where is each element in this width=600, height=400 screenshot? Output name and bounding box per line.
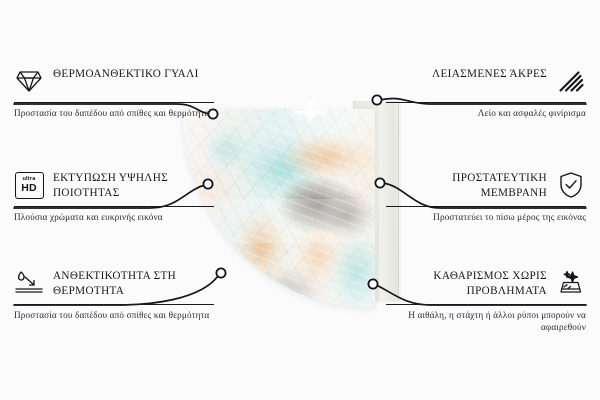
feature-description: Προστασία του δαπέδου από σπίθες και θερ… (14, 108, 214, 120)
feature-description: Πλούσια χρώματα και ευκρινής εικόνα (14, 212, 214, 224)
polished-edges-icon (556, 66, 586, 96)
feature-divider (386, 102, 586, 103)
feature-divider (14, 206, 214, 207)
sparkle-clean-icon (556, 268, 586, 298)
product-image (183, 99, 405, 311)
feature-divider (386, 304, 586, 305)
feature-header: ΚΑΘΑΡΙΣΜΟΣ ΧΩΡΙΣ ΠΡΟΒΛΗΜΑΤΑ (386, 268, 586, 298)
feature-protective-film: ΠΡΟΣΤΑΤΕΥΤΙΚΗ ΜΕΜΒΡΑΝΗ Προστατεύει το πί… (386, 170, 586, 224)
feature-title: ΑΝΘΕΚΤΙΚΟΤΗΤΑ ΣΤΗ ΘΕΡΜΟΤΗΤΑ (53, 268, 205, 298)
flame-deflect-icon (14, 268, 44, 298)
feature-title: ΚΑΘΑΡΙΣΜΟΣ ΧΩΡΙΣ ΠΡΟΒΛΗΜΑΤΑ (395, 268, 547, 298)
feature-header: ultra HD ΕΚΤΥΠΩΣΗ ΥΨΗΛΗΣ ΠΟΙΟΤΗΤΑΣ (14, 170, 214, 200)
feature-header: ΠΡΟΣΤΑΤΕΥΤΙΚΗ ΜΕΜΒΡΑΝΗ (386, 170, 586, 200)
feature-title: ΠΡΟΣΤΑΤΕΥΤΙΚΗ ΜΕΜΒΡΑΝΗ (395, 170, 547, 200)
diamond-icon (14, 66, 44, 96)
feature-description: Προστασία του δαπέδου από σπίθες και θερ… (14, 310, 214, 322)
feature-polished-edges: ΛΕΙΑΣΜΕΝΕΣ ΆΚΡΕΣ Λείο και ασφαλές φινίρι… (386, 66, 586, 120)
shield-check-icon (556, 170, 586, 200)
feature-divider (386, 206, 586, 207)
ultra-hd-icon: ultra HD (14, 170, 44, 200)
feature-description: Λείο και ασφαλές φινίρισμα (386, 108, 586, 120)
feature-divider (14, 304, 214, 305)
feature-description: Η αιθάλη, η στάχτη ή άλλοι ρύποι μπορούν… (386, 310, 586, 333)
feature-description: Προστατεύει το πίσω μέρος της εικόνας (386, 212, 586, 224)
feature-header: ΛΕΙΑΣΜΕΝΕΣ ΆΚΡΕΣ (386, 66, 586, 96)
feature-title: ΘΕΡΜΟΑΝΘΕΚΤΙΚΟ ΓΥΑΛΙ (53, 66, 199, 82)
feature-header: ΘΕΡΜΟΑΝΘΕΚΤΙΚΟ ΓΥΑΛΙ (14, 66, 214, 96)
feature-easy-cleaning: ΚΑΘΑΡΙΣΜΟΣ ΧΩΡΙΣ ΠΡΟΒΛΗΜΑΤΑ Η αιθάλη, η … (386, 268, 586, 333)
feature-title: ΕΚΤΥΠΩΣΗ ΥΨΗΛΗΣ ΠΟΙΟΤΗΤΑΣ (53, 170, 205, 200)
feature-header: ΑΝΘΕΚΤΙΚΟΤΗΤΑ ΣΤΗ ΘΕΡΜΟΤΗΤΑ (14, 268, 214, 298)
feature-high-quality-print: ultra HD ΕΚΤΥΠΩΣΗ ΥΨΗΛΗΣ ΠΟΙΟΤΗΤΑΣ Πλούσ… (14, 170, 214, 224)
feature-divider (14, 102, 214, 103)
feature-heat-resistant-glass: ΘΕΡΜΟΑΝΘΕΚΤΙΚΟ ΓΥΑΛΙ Προστασία του δαπέδ… (14, 66, 214, 120)
feature-heat-durability: ΑΝΘΕΚΤΙΚΟΤΗΤΑ ΣΤΗ ΘΕΡΜΟΤΗΤΑ Προστασία το… (14, 268, 214, 322)
infographic-canvas: ΘΕΡΜΟΑΝΘΕΚΤΙΚΟ ΓΥΑΛΙ Προστασία του δαπέδ… (0, 0, 600, 400)
feature-title: ΛΕΙΑΣΜΕΝΕΣ ΆΚΡΕΣ (432, 66, 547, 82)
